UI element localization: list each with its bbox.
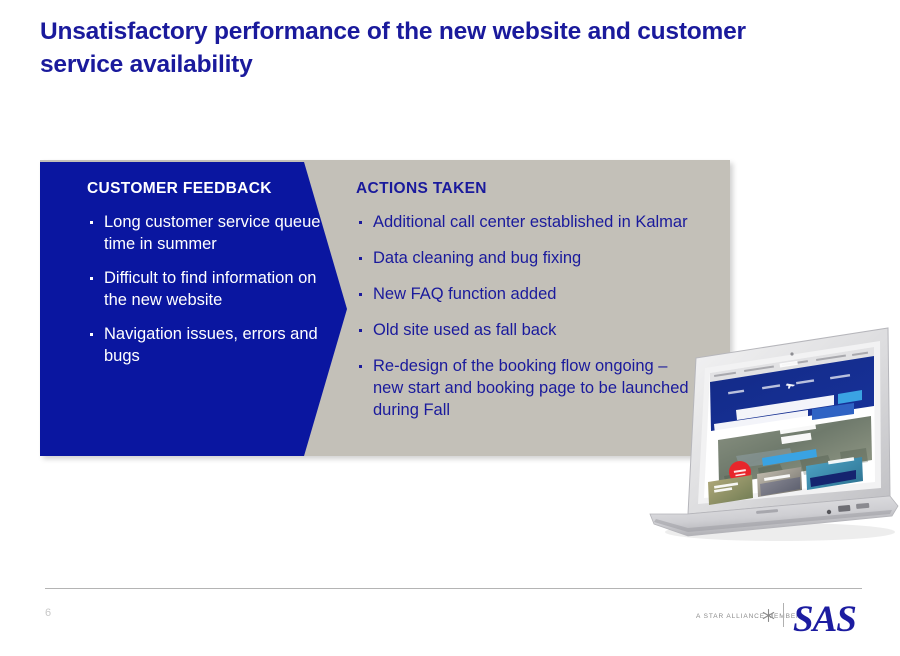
headphone-port (827, 510, 831, 514)
page-number: 6 (45, 607, 51, 619)
actions-taken-heading: ACTIONS TAKEN (356, 180, 487, 198)
laptop-screen-content (704, 347, 875, 505)
laptop-product-image (640, 300, 900, 550)
content-panels: CUSTOMER FEEDBACK Long customer service … (40, 160, 730, 456)
laptop-lid (688, 328, 890, 514)
list-item: Data cleaning and bug fixing (356, 248, 696, 270)
list-item: Navigation issues, errors and bugs (87, 324, 335, 368)
footer-divider-rule (45, 588, 862, 589)
laptop-illustration (640, 300, 900, 550)
star-alliance-text: A STAR ALLIANCE MEMBER (696, 613, 802, 620)
footer-vertical-divider (783, 603, 784, 627)
usb-port (838, 505, 850, 512)
star-alliance-icon (761, 608, 776, 623)
sas-logo: SAS (793, 598, 856, 641)
list-item: Long customer service queue time in summ… (87, 212, 335, 256)
page-title: Unsatisfactory performance of the new we… (40, 16, 830, 81)
customer-feedback-list: Long customer service queue time in summ… (87, 212, 335, 380)
customer-feedback-heading: CUSTOMER FEEDBACK (87, 180, 272, 198)
list-item: Additional call center established in Ka… (356, 212, 696, 234)
list-item: Difficult to find information on the new… (87, 268, 335, 312)
webcam-icon (790, 352, 793, 355)
